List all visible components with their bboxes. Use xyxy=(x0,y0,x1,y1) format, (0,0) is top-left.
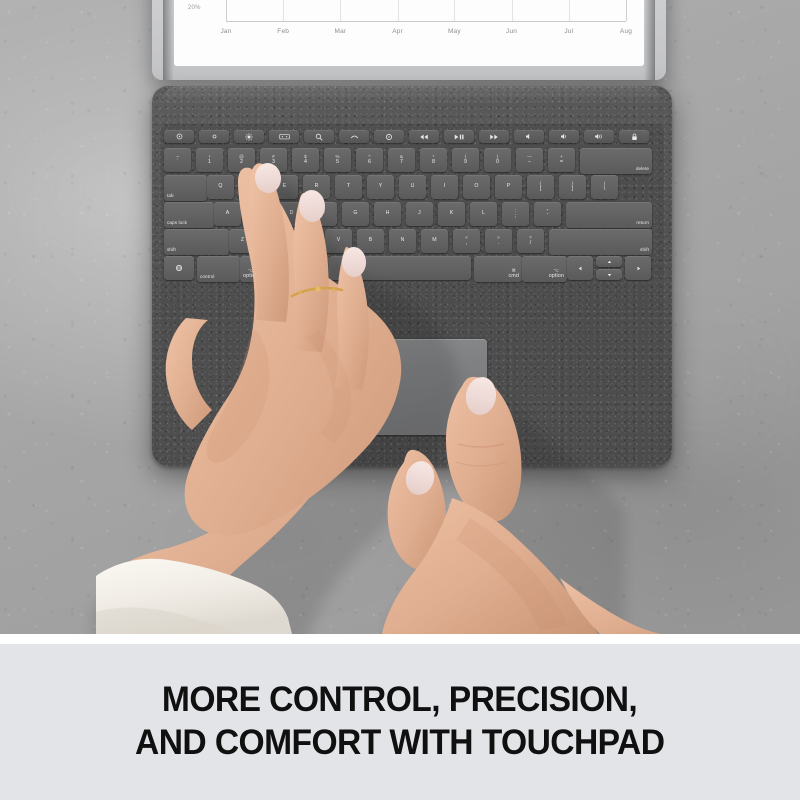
photo-caption-divider xyxy=(0,634,800,644)
caption-line-2: AND COMFORT WITH TOUCHPAD xyxy=(135,722,664,765)
left-hand xyxy=(86,160,453,634)
hands-layer xyxy=(0,0,800,634)
product-feature-image: 20% xyxy=(0,0,800,800)
product-photo: 20% xyxy=(0,0,800,634)
caption-band: MORE CONTROL, PRECISION, AND COMFORT WIT… xyxy=(0,644,800,800)
caption-line-1: MORE CONTROL, PRECISION, xyxy=(162,679,637,722)
